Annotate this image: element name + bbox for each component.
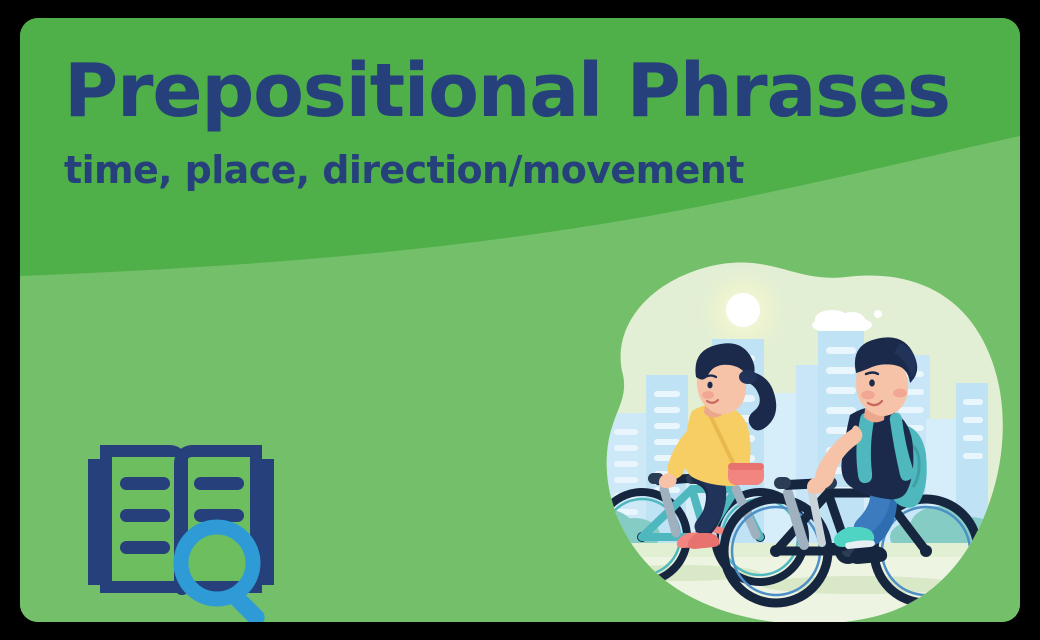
book-search-icon xyxy=(80,423,280,622)
page-subtitle: time, place, direction/movement xyxy=(64,151,964,191)
slide-card: Prepositional Phrases time, place, direc… xyxy=(20,18,1020,622)
page-title: Prepositional Phrases xyxy=(64,54,964,129)
slide-root: Prepositional Phrases time, place, direc… xyxy=(0,0,1040,640)
cyclists-illustration-svg xyxy=(560,243,1020,622)
cyclists-illustration xyxy=(560,243,1020,622)
book-search-icon-svg xyxy=(80,423,280,622)
shadow xyxy=(760,576,960,594)
heading-block: Prepositional Phrases time, place, direc… xyxy=(64,54,964,191)
